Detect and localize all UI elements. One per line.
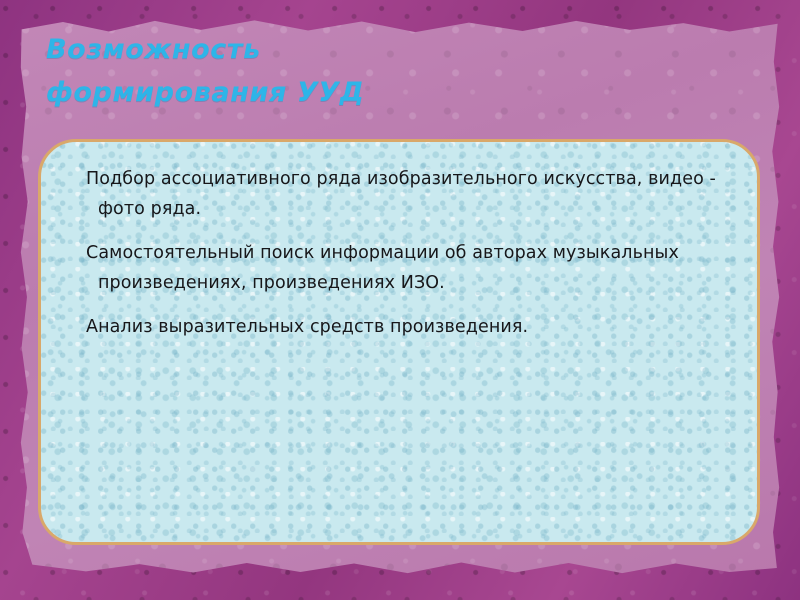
- list-item: Подбор ассоциативного ряда изобразительн…: [86, 164, 727, 224]
- list-item: Анализ выразительных средств произведени…: [86, 312, 727, 342]
- content-list: Подбор ассоциативного ряда изобразительн…: [41, 142, 757, 342]
- list-item: Самостоятельный поиск информации об авто…: [86, 238, 727, 298]
- slide-canvas: Возможность формирования УУД Подбор ассо…: [0, 0, 800, 600]
- content-card: Подбор ассоциативного ряда изобразительн…: [38, 139, 760, 545]
- slide-title: Возможность формирования УУД: [46, 28, 746, 114]
